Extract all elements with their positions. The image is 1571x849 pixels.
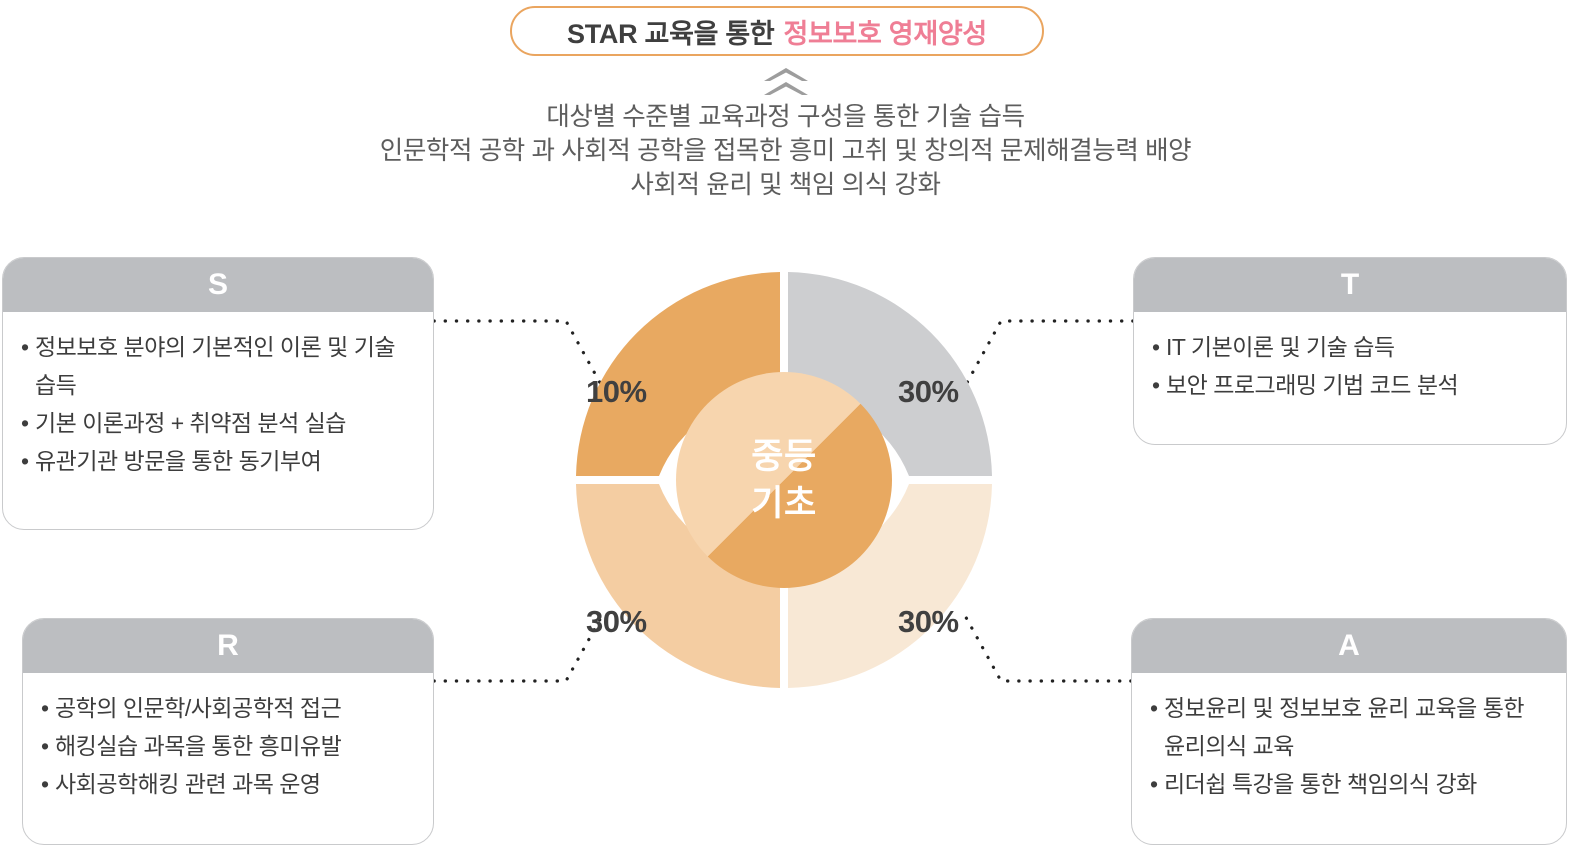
subtitle-line: 인문학적 공학 과 사회적 공학을 접목한 흥미 고취 및 창의적 문제해결능력… — [0, 134, 1571, 168]
list-item-label: 보안 프로그래밍 기법 코드 분석 — [1166, 366, 1548, 404]
bullet-icon: • — [1150, 689, 1164, 765]
list-item: • 유관기관 방문을 통한 동기부여 — [21, 442, 415, 480]
card-a-body: • 정보윤리 및 정보보호 윤리 교육을 통한 윤리의식 교육 • 리더쉽 특강… — [1132, 673, 1566, 817]
donut-percent-t: 30% — [898, 374, 959, 410]
list-item-label: 유관기관 방문을 통한 동기부여 — [35, 442, 415, 480]
list-item: • 정보윤리 및 정보보호 윤리 교육을 통한 윤리의식 교육 — [1150, 689, 1548, 765]
list-item: • 기본 이론과정 + 취약점 분석 실습 — [21, 404, 415, 442]
card-r-label: R — [217, 631, 239, 661]
list-item-label: 기본 이론과정 + 취약점 분석 실습 — [35, 404, 415, 442]
bullet-icon: • — [21, 442, 35, 480]
bullet-icon: • — [1150, 765, 1164, 803]
bullet-icon: • — [41, 765, 55, 803]
list-item-label: IT 기본이론 및 기술 습득 — [1166, 328, 1548, 366]
list-item-label: 정보윤리 및 정보보호 윤리 교육을 통한 윤리의식 교육 — [1164, 689, 1548, 765]
list-item-label: 사회공학해킹 관련 과목 운영 — [55, 765, 415, 803]
bullet-icon: • — [1152, 366, 1166, 404]
subtitle-line: 대상별 수준별 교육과정 구성을 통한 기술 습득 — [0, 100, 1571, 134]
list-item-label: 공학의 인문학/사회공학적 접근 — [55, 689, 415, 727]
list-item: • 공학의 인문학/사회공학적 접근 — [41, 689, 415, 727]
list-item: • 해킹실습 과목을 통한 흥미유발 — [41, 727, 415, 765]
card-r-header: R — [23, 619, 433, 673]
double-chevron-up-icon — [756, 64, 816, 98]
card-a-label: A — [1338, 631, 1360, 661]
card-s[interactable]: S • 정보보호 분야의 기본적인 이론 및 기술 습득 • 기본 이론과정 +… — [2, 257, 434, 530]
page-title-plain: STAR 교육을 통한 — [567, 12, 774, 51]
page-title-accent: 정보보호 영재양성 — [783, 12, 987, 51]
subtitle-line: 사회적 윤리 및 책임 의식 강화 — [0, 168, 1571, 202]
card-r-body: • 공학의 인문학/사회공학적 접근 • 해킹실습 과목을 통한 흥미유발 • … — [23, 673, 433, 817]
list-item: • 사회공학해킹 관련 과목 운영 — [41, 765, 415, 803]
donut-center-circle — [676, 372, 892, 588]
list-item: • IT 기본이론 및 기술 습득 — [1152, 328, 1548, 366]
bullet-icon: • — [41, 689, 55, 727]
donut-percent-a: 30% — [898, 604, 959, 640]
card-t[interactable]: T • IT 기본이론 및 기술 습득 • 보안 프로그래밍 기법 코드 분석 — [1133, 257, 1567, 445]
bullet-icon: • — [1152, 328, 1166, 366]
diagram-canvas: STAR 교육을 통한정보보호 영재양성 대상별 수준별 교육과정 구성을 통한… — [0, 0, 1571, 849]
bullet-icon: • — [41, 727, 55, 765]
list-item: • 보안 프로그래밍 기법 코드 분석 — [1152, 366, 1548, 404]
card-t-body: • IT 기본이론 및 기술 습득 • 보안 프로그래밍 기법 코드 분석 — [1134, 312, 1566, 418]
donut-chart: 중등 기초 10% 30% 30% 30% — [534, 270, 1034, 690]
list-item-label: 정보보호 분야의 기본적인 이론 및 기술 습득 — [35, 328, 415, 404]
card-t-label: T — [1341, 270, 1359, 300]
card-s-header: S — [3, 258, 433, 312]
donut-percent-r: 30% — [586, 604, 647, 640]
subtitle-block: 대상별 수준별 교육과정 구성을 통한 기술 습득 인문학적 공학 과 사회적 … — [0, 100, 1571, 202]
donut-percent-s: 10% — [586, 374, 647, 410]
card-s-label: S — [208, 270, 228, 300]
page-title-pill: STAR 교육을 통한정보보호 영재양성 — [510, 6, 1044, 56]
card-a[interactable]: A • 정보윤리 및 정보보호 윤리 교육을 통한 윤리의식 교육 • 리더쉽 … — [1131, 618, 1567, 845]
list-item-label: 리더쉽 특강을 통한 책임의식 강화 — [1164, 765, 1548, 803]
card-s-body: • 정보보호 분야의 기본적인 이론 및 기술 습득 • 기본 이론과정 + 취… — [3, 312, 433, 494]
card-r[interactable]: R • 공학의 인문학/사회공학적 접근 • 해킹실습 과목을 통한 흥미유발 … — [22, 618, 434, 845]
list-item: • 리더쉽 특강을 통한 책임의식 강화 — [1150, 765, 1548, 803]
list-item: • 정보보호 분야의 기본적인 이론 및 기술 습득 — [21, 328, 415, 404]
card-t-header: T — [1134, 258, 1566, 312]
bullet-icon: • — [21, 404, 35, 442]
card-a-header: A — [1132, 619, 1566, 673]
bullet-icon: • — [21, 328, 35, 404]
list-item-label: 해킹실습 과목을 통한 흥미유발 — [55, 727, 415, 765]
